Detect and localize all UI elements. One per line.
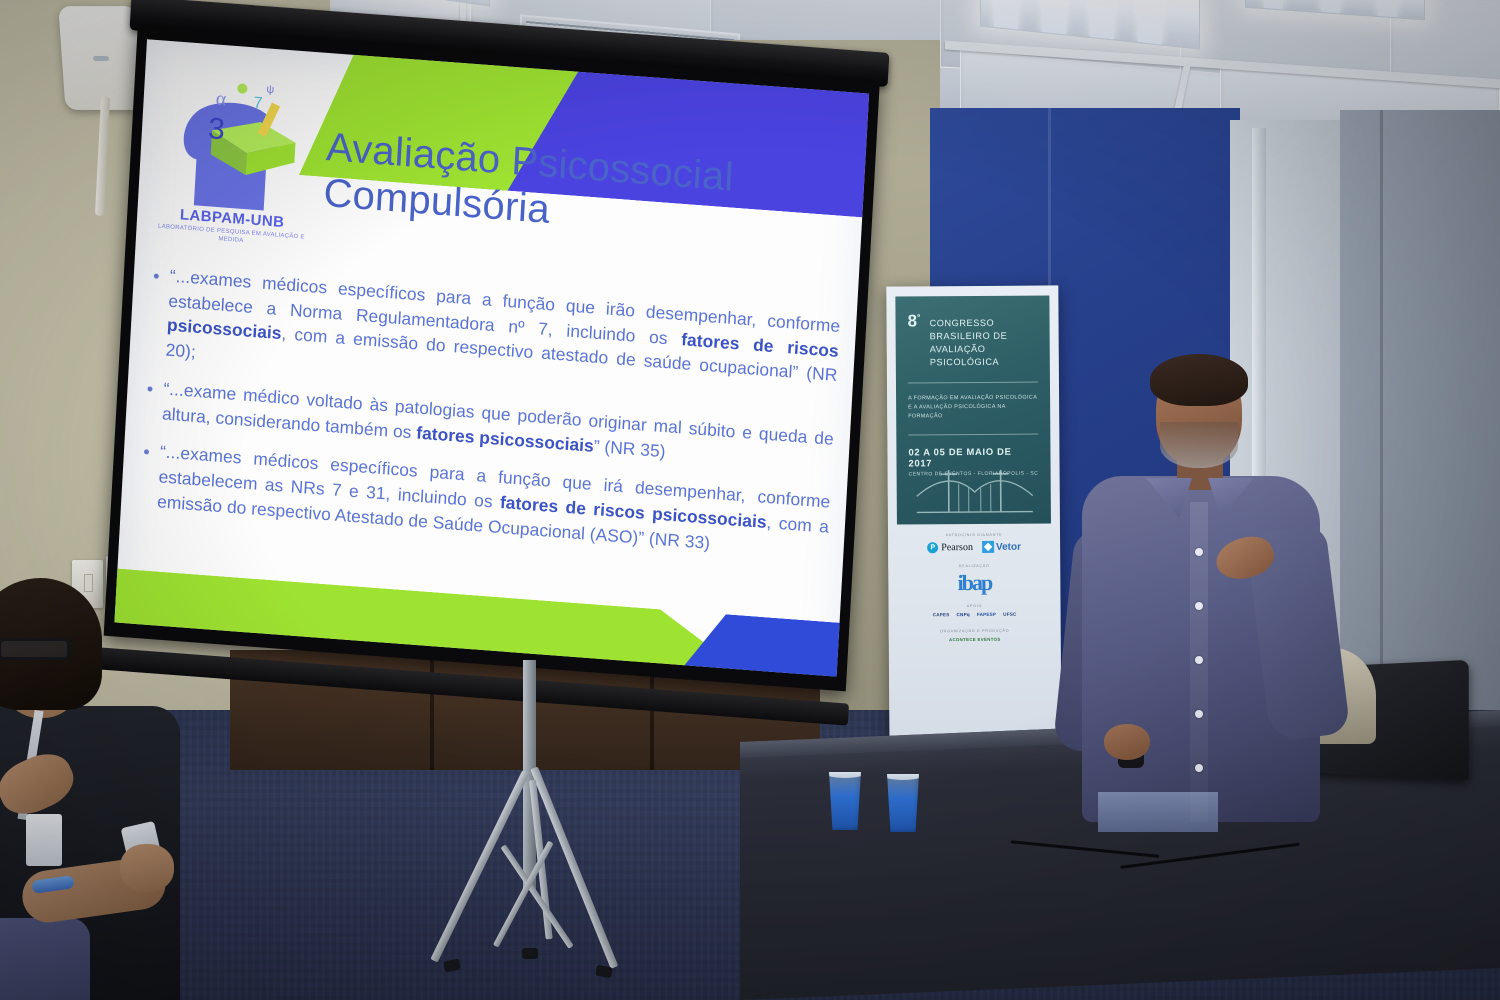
realization-label: REALIZAÇÃO: [901, 563, 1047, 568]
organizer-label: ORGANIZAÇÃO E PRODUÇÃO: [902, 628, 1048, 633]
audience-hand: [120, 844, 174, 892]
svg-text:7: 7: [253, 94, 263, 112]
banner-header-block: 8º CONGRESSO BRASILEIRO DE AVALIAÇÃO PSI…: [895, 295, 1051, 524]
conference-photo-scene: 3 α 7 ψ LABPAM-UNB LABORATÓRIO DE PESQUI…: [0, 0, 1500, 1000]
banner-divider: [908, 433, 1038, 435]
svg-text:ψ: ψ: [266, 83, 275, 96]
cable: [1011, 840, 1160, 858]
banner-heading-line2: BRASILEIRO DE: [930, 330, 1038, 344]
pearson-logo: P Pearson: [927, 542, 973, 553]
bullet-dot-icon: [154, 273, 159, 278]
presenter-beard: [1160, 422, 1238, 468]
pearson-wordmark: Pearson: [941, 542, 973, 553]
cnpq-logo: CNPq: [957, 612, 970, 617]
vetor-wordmark: Vetor: [996, 541, 1021, 552]
sponsor-row-main: P Pearson Vetor: [901, 540, 1047, 553]
eyeglasses-icon: [0, 638, 70, 660]
screen-tripod-stand: [430, 660, 630, 990]
fapesp-logo: FAPESP: [977, 612, 996, 617]
labpam-logo: 3 α 7 ψ LABPAM-UNB LABORATÓRIO DE PESQUI…: [156, 55, 316, 256]
audience-lap: [0, 918, 90, 1000]
banner-subtitle-line2: E A AVALIAÇÃO PSICOLÓGICA NA FORMAÇÃO: [908, 403, 1038, 421]
sponsor-label-main: PATROCÍNIO DIAMANTE: [901, 532, 1047, 537]
wall-far-right: [1340, 110, 1500, 730]
presenter-hair: [1150, 354, 1248, 406]
banner-heading-line1: CONGRESSO: [930, 317, 1038, 331]
support-label: APOIO: [902, 603, 1048, 608]
banner-divider: [908, 382, 1038, 384]
bridge-illustration-icon: [915, 462, 1035, 519]
slide-deco-blue-bottom: [681, 611, 843, 677]
bullet-dot-icon: [144, 449, 149, 454]
vetor-mark-icon: [982, 541, 994, 553]
banner-edition-suffix: º: [917, 313, 920, 322]
tripod-foot: [522, 948, 538, 959]
audience-member: [0, 578, 270, 1000]
banner-sponsor-block: PATROCÍNIO DIAMANTE P Pearson Vetor REAL…: [897, 523, 1052, 642]
banner-heading: CONGRESSO BRASILEIRO DE AVALIAÇÃO PSICOL…: [930, 317, 1038, 370]
support-logo-row: CAPES CNPq FAPESP UFSC: [902, 611, 1048, 617]
name-badge: [26, 814, 62, 866]
tripod-foot: [595, 965, 613, 979]
banner-edition-number: 8: [907, 311, 917, 330]
svg-text:α: α: [215, 88, 227, 111]
svg-text:3: 3: [207, 112, 225, 146]
pearson-mark-icon: P: [927, 542, 938, 553]
capes-logo: CAPES: [933, 612, 950, 617]
presenter-left-hand: [1104, 724, 1150, 760]
bullet-text-post: ” (NR 35): [593, 435, 666, 460]
conference-banner: 8º CONGRESSO BRASILEIRO DE AVALIAÇÃO PSI…: [886, 285, 1061, 776]
presenter: [1060, 352, 1350, 822]
head-with-open-box-icon: 3 α 7 ψ: [163, 71, 310, 221]
banner-heading-line3: AVALIAÇÃO PSICOLÓGICA: [930, 343, 1038, 370]
vetor-logo: Vetor: [982, 541, 1021, 553]
slide-bullet-list: “...exames médicos específicos para a fu…: [140, 262, 841, 578]
banner-subtitle: A FORMAÇÃO EM AVALIAÇÃO PSICOLÓGICA E A …: [908, 394, 1038, 421]
ibap-logo: ibap: [901, 571, 1047, 594]
ufsc-logo: UFSC: [1003, 612, 1016, 617]
tripod-foot: [443, 958, 461, 972]
organizer-logo: ACONTECE EVENTOS: [902, 636, 1048, 642]
bullet-dot-icon: [147, 386, 152, 391]
